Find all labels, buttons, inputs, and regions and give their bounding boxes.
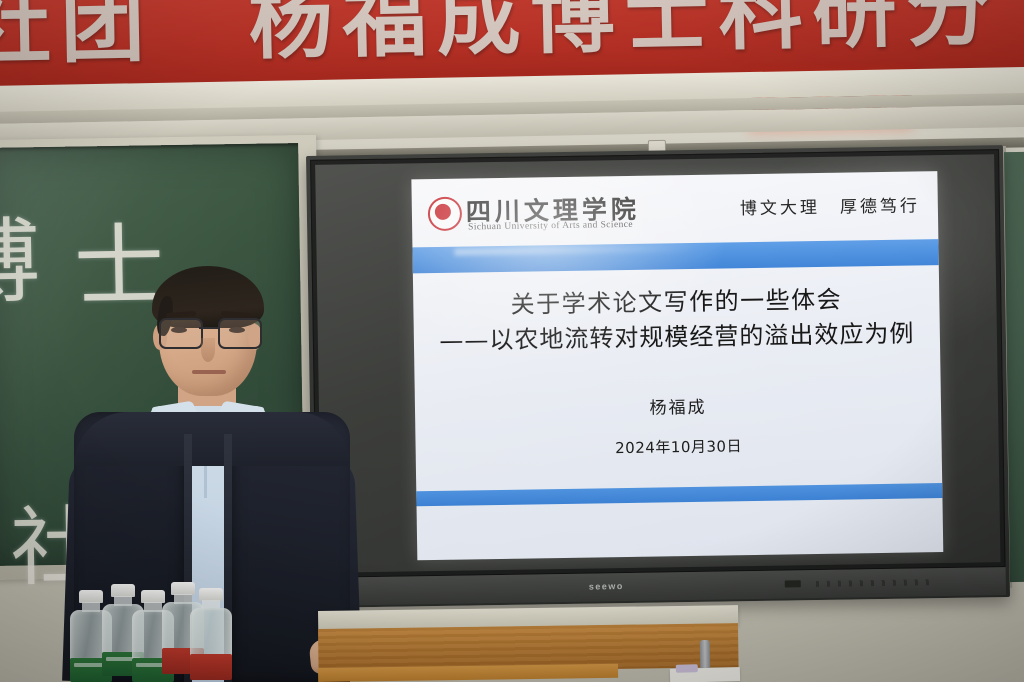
presenter-nose: [201, 338, 215, 362]
presenter-jacket-shoulders: [74, 412, 350, 466]
display-panel[interactable]: 四川文理学院 Sichuan University of Arts and Sc…: [315, 154, 1000, 573]
presentation-slide: 四川文理学院 Sichuan University of Arts and Sc…: [411, 171, 943, 560]
slide-date: 2024年10月30日: [415, 432, 941, 461]
podium-handle[interactable]: [700, 640, 710, 670]
glasses-bridge: [199, 327, 219, 329]
display-port-strip: [816, 579, 936, 587]
classroom-lecture-photo: 社团 杨福成博士科研分 14:32:33 2024.10.30 13℃ 9.28…: [0, 0, 1024, 682]
glasses-lens-left: [159, 318, 203, 349]
slide-accent-bar-top: [412, 239, 938, 273]
slide-title-line2: ——以农地流转对规模经营的溢出效应为例: [414, 316, 940, 359]
display-bezel: 四川文理学院 Sichuan University of Arts and Sc…: [310, 149, 1005, 578]
bottle-label: [190, 654, 232, 680]
bottle-body: [190, 608, 232, 660]
seewo-display[interactable]: 四川文理学院 Sichuan University of Arts and Sc…: [306, 145, 1010, 608]
university-motto: 博文大理 厚德笃行: [740, 191, 920, 219]
ir-receiver-icon: [785, 580, 801, 587]
slide-body: 关于学术论文写作的一些体会 ——以农地流转对规模经营的溢出效应为例 杨福成 20…: [413, 281, 942, 461]
university-logo-icon: [428, 197, 463, 232]
water-bottle: [190, 588, 232, 680]
slide-author: 杨福成: [415, 389, 941, 422]
podium-paper-sheet: [670, 667, 740, 682]
water-bottle-group: [70, 586, 220, 682]
glasses-lens-right: [218, 318, 262, 349]
seewo-brand-logo: seewo: [589, 581, 624, 592]
slide-accent-bar-bottom: [416, 483, 942, 506]
presenter-mouth: [192, 370, 226, 374]
university-name-en: Sichuan University of Arts and Science: [468, 220, 633, 233]
slide-header: 四川文理学院 Sichuan University of Arts and Sc…: [411, 171, 938, 245]
